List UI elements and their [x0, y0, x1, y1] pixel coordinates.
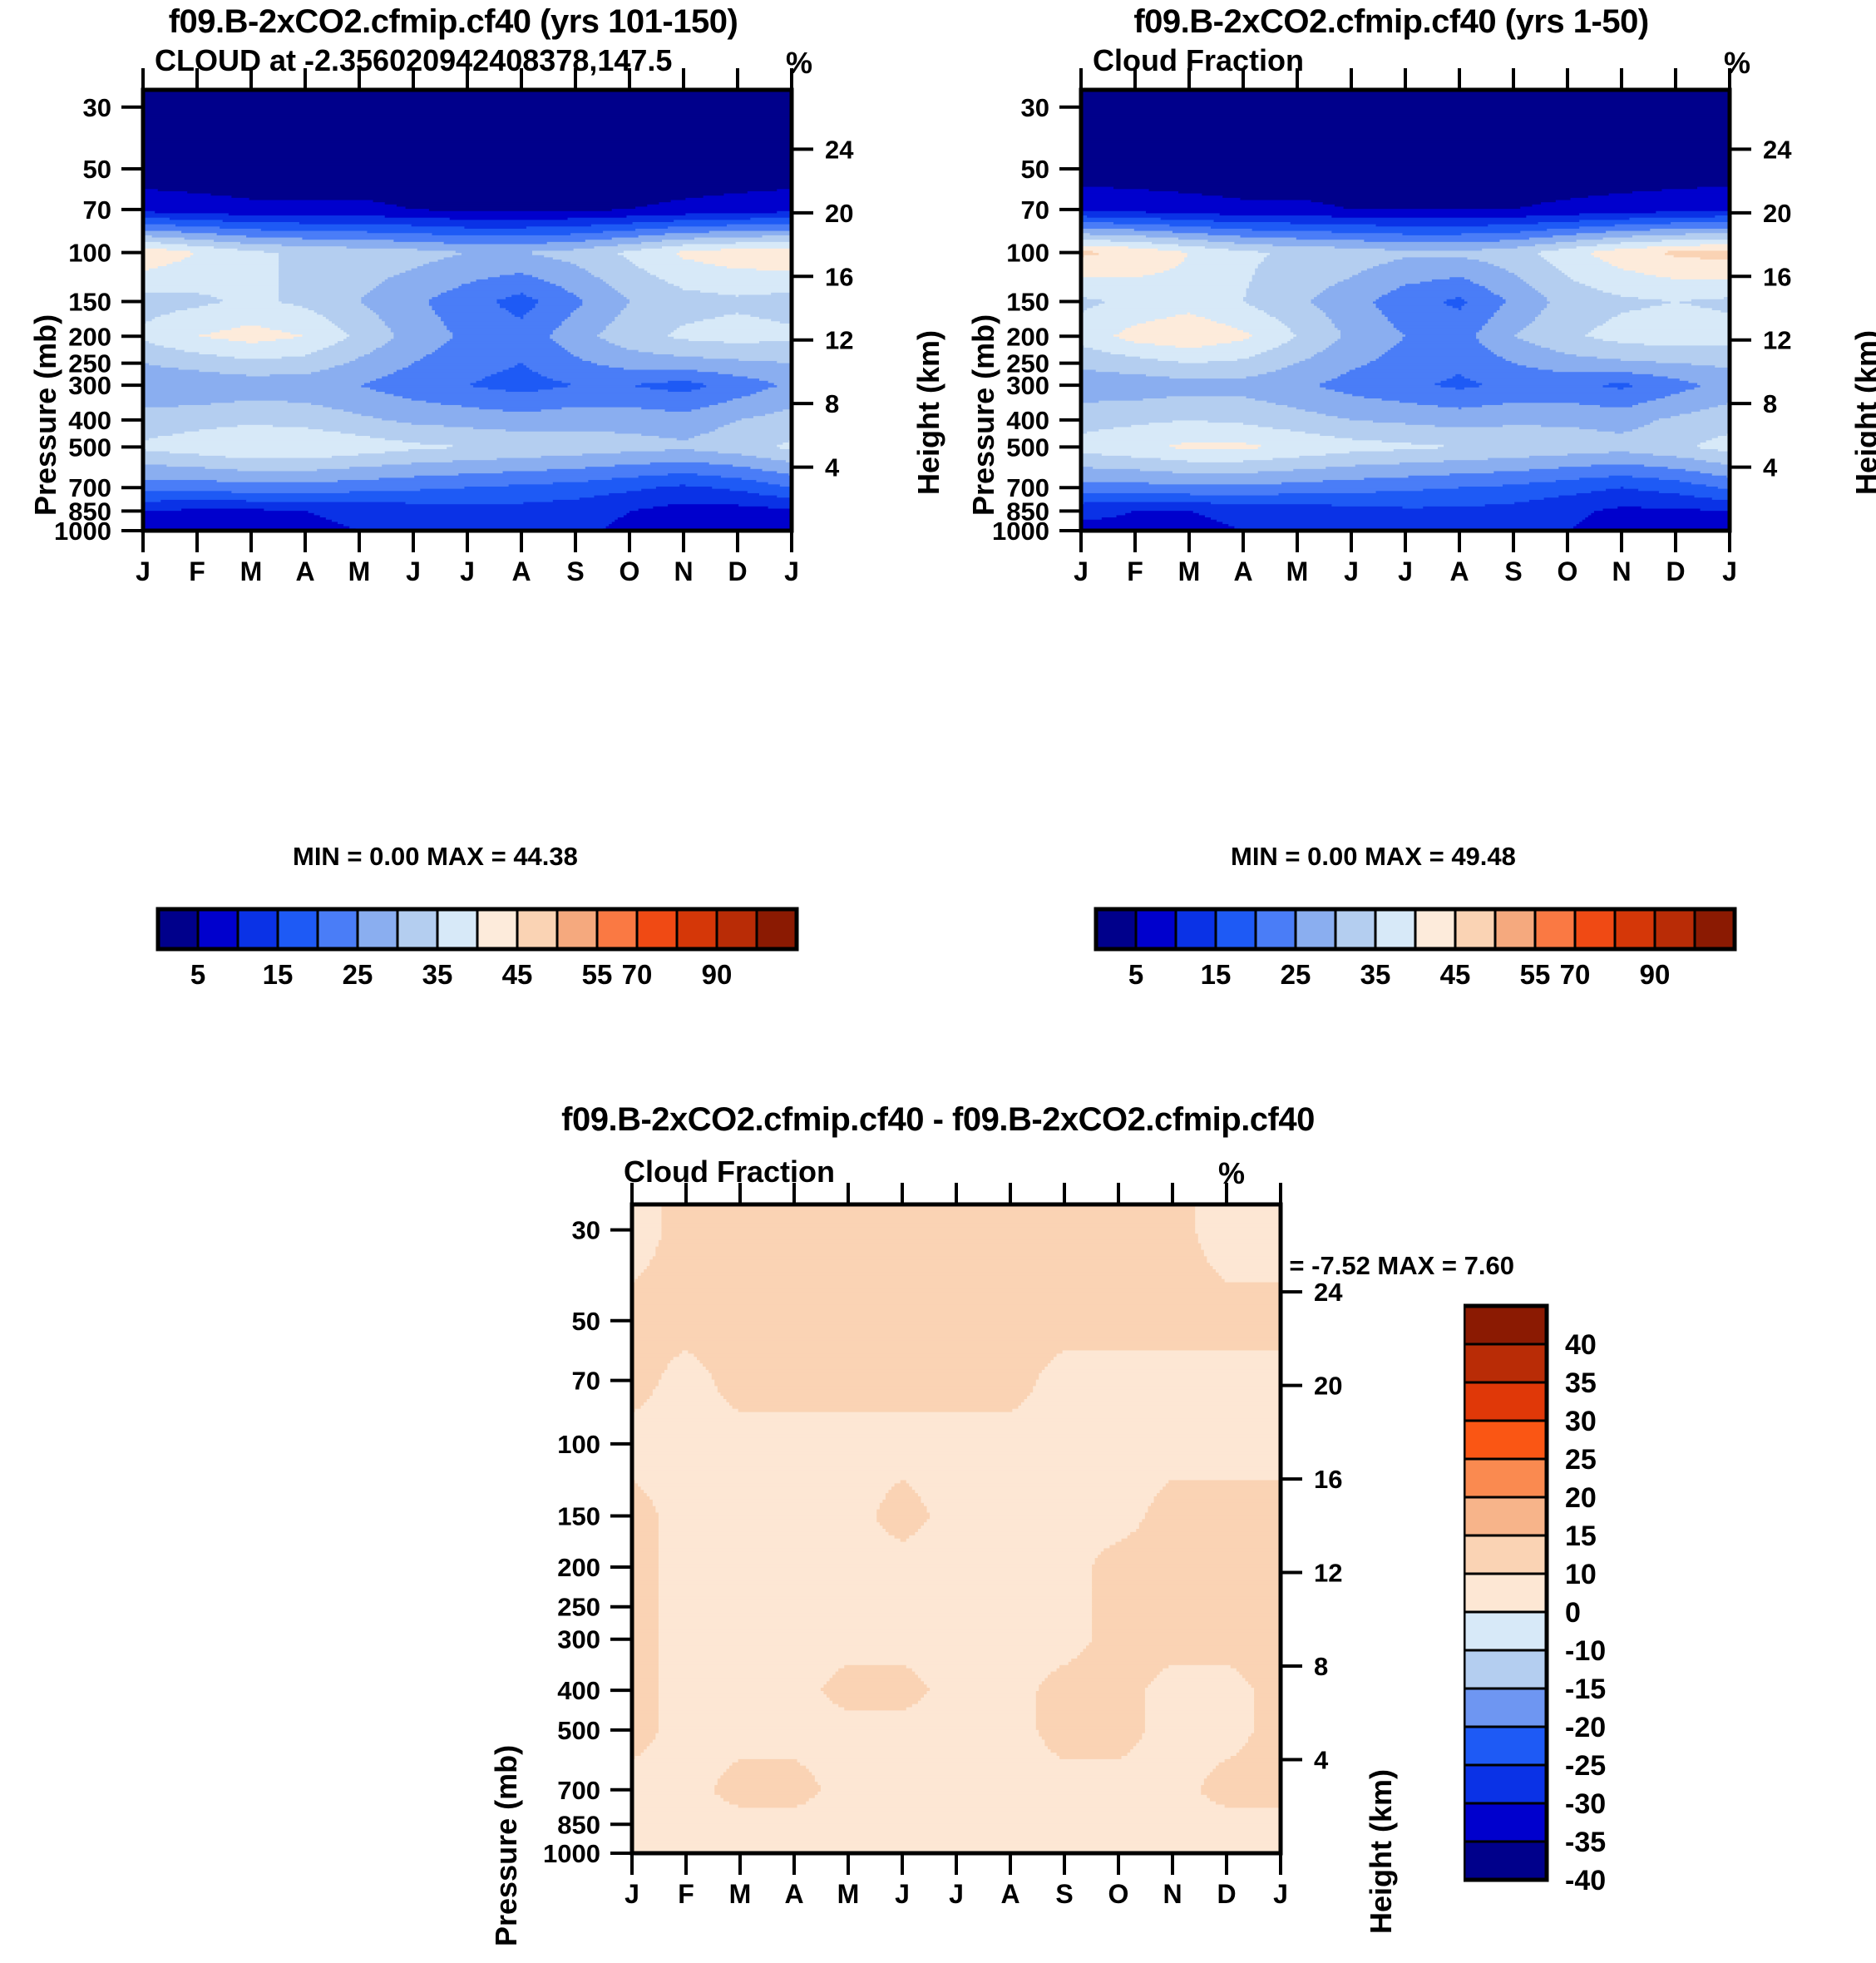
pressure-tick-label: 250 [557, 1593, 600, 1622]
colorbar-tick-label: 70 [622, 959, 653, 990]
panel-title: f09.B-2xCO2.cfmip.cf40 (yrs 101-150) [0, 3, 906, 41]
month-tick-label: J [1074, 556, 1089, 586]
pressure-tick-label: 400 [68, 406, 111, 435]
colorbar-cell [1335, 909, 1375, 949]
colorbar-cell [477, 909, 517, 949]
month-tick-label: A [511, 556, 531, 586]
pressure-tick-label: 100 [68, 239, 111, 268]
colorbar-cell [1216, 909, 1256, 949]
colorbar-cell [437, 909, 477, 949]
pressure-tick-label: 70 [1021, 195, 1049, 225]
colorbar-tick-label: -35 [1565, 1827, 1606, 1858]
colorbar-cell [1464, 1497, 1547, 1535]
colorbar-tick-label: 5 [1128, 959, 1143, 990]
colorbar-tick-label: -15 [1565, 1674, 1606, 1705]
colorbar-cell [1256, 909, 1296, 949]
colorbar-cell [1464, 1765, 1547, 1803]
month-tick-label: M [1286, 556, 1309, 586]
pressure-tick-label: 200 [557, 1553, 600, 1582]
height-tick-label: 8 [825, 389, 839, 418]
colorbar-tick-label: 35 [422, 959, 453, 990]
colorbar-cell [717, 909, 757, 949]
colorbar-cell [1464, 1727, 1547, 1765]
height-tick-label: 24 [825, 135, 854, 164]
colorbar-cell [1176, 909, 1216, 949]
month-tick-label: A [1233, 556, 1252, 586]
pressure-tick-label: 200 [1006, 322, 1049, 351]
colorbar-tick-label: 55 [1520, 959, 1551, 990]
month-tick-label: N [1163, 1879, 1182, 1909]
month-tick-label: J [1398, 556, 1413, 586]
colorbar-tick-label: 55 [582, 959, 613, 990]
colorbar-cell [358, 909, 397, 949]
month-tick-label: A [784, 1879, 803, 1909]
colorbar-cell [278, 909, 318, 949]
colorbar-cell [1415, 909, 1455, 949]
colorbar-tick-label: 10 [1565, 1559, 1597, 1590]
month-tick-label: S [566, 556, 584, 586]
height-tick-label: 8 [1314, 1652, 1328, 1681]
pressure-tick-label: 700 [557, 1776, 600, 1805]
colorbar-cell [198, 909, 238, 949]
pressure-tick-label: 100 [1006, 239, 1049, 268]
colorbar-tick-label: -25 [1565, 1750, 1606, 1782]
colorbar-cell [677, 909, 717, 949]
height-tick-label: 4 [825, 453, 840, 482]
pressure-tick-label: 30 [83, 93, 111, 122]
colorbar-cell [1464, 1306, 1547, 1344]
colorbar-cell [1615, 909, 1655, 949]
month-tick-label: J [136, 556, 151, 586]
month-tick-label: D [728, 556, 747, 586]
colorbar-cell [1464, 1421, 1547, 1459]
month-tick-label: J [460, 556, 475, 586]
colorbar-tick-label: 20 [1565, 1482, 1597, 1514]
colorbar-tick-label: 25 [1281, 959, 1311, 990]
height-tick-label: 16 [825, 262, 853, 291]
height-tick-label: 4 [1314, 1746, 1329, 1775]
colorbar-tick-label: 45 [502, 959, 533, 990]
month-tick-label: J [949, 1879, 964, 1909]
pressure-tick-label: 400 [557, 1676, 600, 1705]
colorbar-tick-label: -40 [1565, 1865, 1606, 1896]
colorbar-cell [1575, 909, 1615, 949]
colorbar-tick-label: -20 [1565, 1712, 1606, 1743]
height-tick-label: 20 [825, 199, 853, 228]
colorbar-cell [397, 909, 437, 949]
month-tick-label: J [895, 1879, 910, 1909]
pressure-tick-label: 30 [1021, 93, 1049, 122]
colorbar-cell [637, 909, 677, 949]
panel-title: f09.B-2xCO2.cfmip.cf40 (yrs 1-50) [938, 3, 1844, 41]
colorbar-cell [1464, 1689, 1547, 1727]
pressure-tick-label: 850 [557, 1810, 600, 1839]
colorbar-tick-label: 70 [1560, 959, 1591, 990]
month-tick-label: J [1273, 1879, 1288, 1909]
panel-title: f09.B-2xCO2.cfmip.cf40 - f09.B-2xCO2.cfm… [0, 1101, 1876, 1139]
month-tick-label: F [189, 556, 205, 586]
colorbar-tick-label: 90 [1640, 959, 1671, 990]
panel-top-right: f09.B-2xCO2.cfmip.cf40 (yrs 1-50) Cloud … [938, 0, 1876, 1015]
pressure-tick-label: 30 [572, 1216, 600, 1245]
colorbar-tick-label: 90 [702, 959, 733, 990]
colorbar-tick-label: 35 [1565, 1367, 1597, 1399]
month-tick-label: A [1000, 1879, 1019, 1909]
colorbar-tick-label: 45 [1440, 959, 1471, 990]
pressure-tick-label: 150 [1006, 288, 1049, 317]
colorbar-tick-label: 0 [1565, 1597, 1581, 1629]
colorbar-tick-label: -10 [1565, 1635, 1606, 1667]
month-tick-label: J [1722, 556, 1737, 586]
colorbar-cell [318, 909, 358, 949]
pressure-tick-label: 50 [572, 1307, 600, 1336]
pressure-tick-label: 50 [83, 155, 111, 184]
colorbar-cell [1464, 1612, 1547, 1650]
colorbar-tick-label: 25 [1565, 1444, 1597, 1476]
pressure-tick-label: 1000 [543, 1839, 600, 1868]
month-tick-label: N [674, 556, 693, 586]
colorbar-tick-label: 30 [1565, 1406, 1597, 1437]
colorbar-cell [1655, 909, 1695, 949]
pressure-tick-label: 300 [1006, 371, 1049, 400]
colorbar-tick-label: 15 [263, 959, 294, 990]
colorbar-cell [1695, 909, 1735, 949]
colorbar-cell [1136, 909, 1176, 949]
pressure-tick-label: 1000 [992, 517, 1049, 546]
colorbar-cell [1464, 1382, 1547, 1421]
month-tick-label: F [1127, 556, 1143, 586]
colorbar-cell [757, 909, 797, 949]
pressure-tick-label: 500 [1006, 433, 1049, 462]
colorbar-tick-label: 5 [190, 959, 205, 990]
colorbar-cell [1464, 1344, 1547, 1382]
colorbar-tick-label: -30 [1565, 1788, 1606, 1820]
month-tick-label: M [240, 556, 263, 586]
month-tick-label: D [1217, 1879, 1236, 1909]
colorbar-cell [1455, 909, 1495, 949]
height-tick-label: 16 [1314, 1465, 1342, 1494]
month-tick-label: J [1344, 556, 1359, 586]
height-tick-label: 12 [1763, 326, 1791, 355]
colorbar-tick-label: 15 [1565, 1520, 1597, 1552]
colorbar-tick-label: 15 [1201, 959, 1232, 990]
colorbar-tick-label: 35 [1360, 959, 1391, 990]
month-tick-label: O [620, 556, 640, 586]
panel-bottom-diff: f09.B-2xCO2.cfmip.cf40 - f09.B-2xCO2.cfm… [0, 1098, 1876, 1961]
colorbar-cell [1535, 909, 1575, 949]
height-tick-label: 12 [825, 326, 853, 355]
month-tick-label: J [406, 556, 421, 586]
month-tick-label: J [625, 1879, 639, 1909]
pressure-tick-label: 70 [572, 1367, 600, 1396]
pressure-tick-label: 100 [557, 1430, 600, 1459]
month-tick-label: S [1055, 1879, 1073, 1909]
contour-plot: 3050701001502002503004005007008501000242… [938, 67, 1876, 898]
month-tick-label: M [837, 1879, 860, 1909]
height-tick-label: 4 [1763, 453, 1778, 482]
month-tick-label: J [784, 556, 799, 586]
height-tick-label: 20 [1314, 1372, 1342, 1401]
colorbar-tick-label: 25 [343, 959, 373, 990]
height-tick-label: 24 [1314, 1278, 1343, 1307]
pressure-tick-label: 50 [1021, 155, 1049, 184]
pressure-tick-label: 500 [557, 1716, 600, 1745]
month-tick-label: N [1612, 556, 1631, 586]
height-tick-label: 24 [1763, 135, 1792, 164]
colorbar-cell [1464, 1842, 1547, 1880]
pressure-tick-label: 150 [557, 1502, 600, 1531]
colorbar-cloud: 515253545557090 [0, 902, 938, 1002]
colorbar-cell [1495, 909, 1535, 949]
pressure-tick-label: 300 [68, 371, 111, 400]
pressure-tick-label: 200 [68, 322, 111, 351]
month-tick-label: S [1504, 556, 1522, 586]
colorbar-cell [238, 909, 278, 949]
pressure-tick-label: 400 [1006, 406, 1049, 435]
colorbar-cell [597, 909, 637, 949]
height-tick-label: 12 [1314, 1559, 1342, 1588]
month-tick-label: M [348, 556, 371, 586]
month-tick-label: O [1558, 556, 1578, 586]
colorbar-cell [1375, 909, 1415, 949]
pressure-tick-label: 500 [68, 433, 111, 462]
panel-top-left: f09.B-2xCO2.cfmip.cf40 (yrs 101-150) CLO… [0, 0, 938, 1015]
month-tick-label: A [1449, 556, 1469, 586]
colorbar-diff: 403530252015100-10-15-20-25-30-35-40 [1464, 1298, 1730, 1963]
colorbar-cloud: 515253545557090 [938, 902, 1876, 1002]
colorbar-cell [1464, 1535, 1547, 1574]
colorbar-cell [1096, 909, 1136, 949]
month-tick-label: A [295, 556, 314, 586]
colorbar-tick-label: 40 [1565, 1329, 1597, 1361]
pressure-tick-label: 150 [68, 288, 111, 317]
height-tick-label: 16 [1763, 262, 1791, 291]
month-tick-label: D [1666, 556, 1685, 586]
colorbar-cell [1464, 1459, 1547, 1497]
pressure-tick-label: 1000 [54, 517, 111, 546]
month-tick-label: F [678, 1879, 694, 1909]
contour-plot: 3050701001502002503004005007008501000242… [0, 67, 938, 898]
colorbar-cell [1296, 909, 1335, 949]
month-tick-label: M [729, 1879, 752, 1909]
pressure-tick-label: 70 [83, 195, 111, 225]
colorbar-cell [1464, 1574, 1547, 1612]
colorbar-cell [557, 909, 597, 949]
month-tick-label: O [1108, 1879, 1129, 1909]
colorbar-cell [158, 909, 198, 949]
contour-plot: 3050701001502002503004005007008501000242… [466, 1181, 1464, 1946]
height-tick-label: 8 [1763, 389, 1777, 418]
month-tick-label: M [1178, 556, 1201, 586]
height-tick-label: 20 [1763, 199, 1791, 228]
colorbar-cell [1464, 1803, 1547, 1842]
pressure-tick-label: 300 [557, 1625, 600, 1654]
colorbar-cell [1464, 1650, 1547, 1689]
colorbar-cell [517, 909, 557, 949]
